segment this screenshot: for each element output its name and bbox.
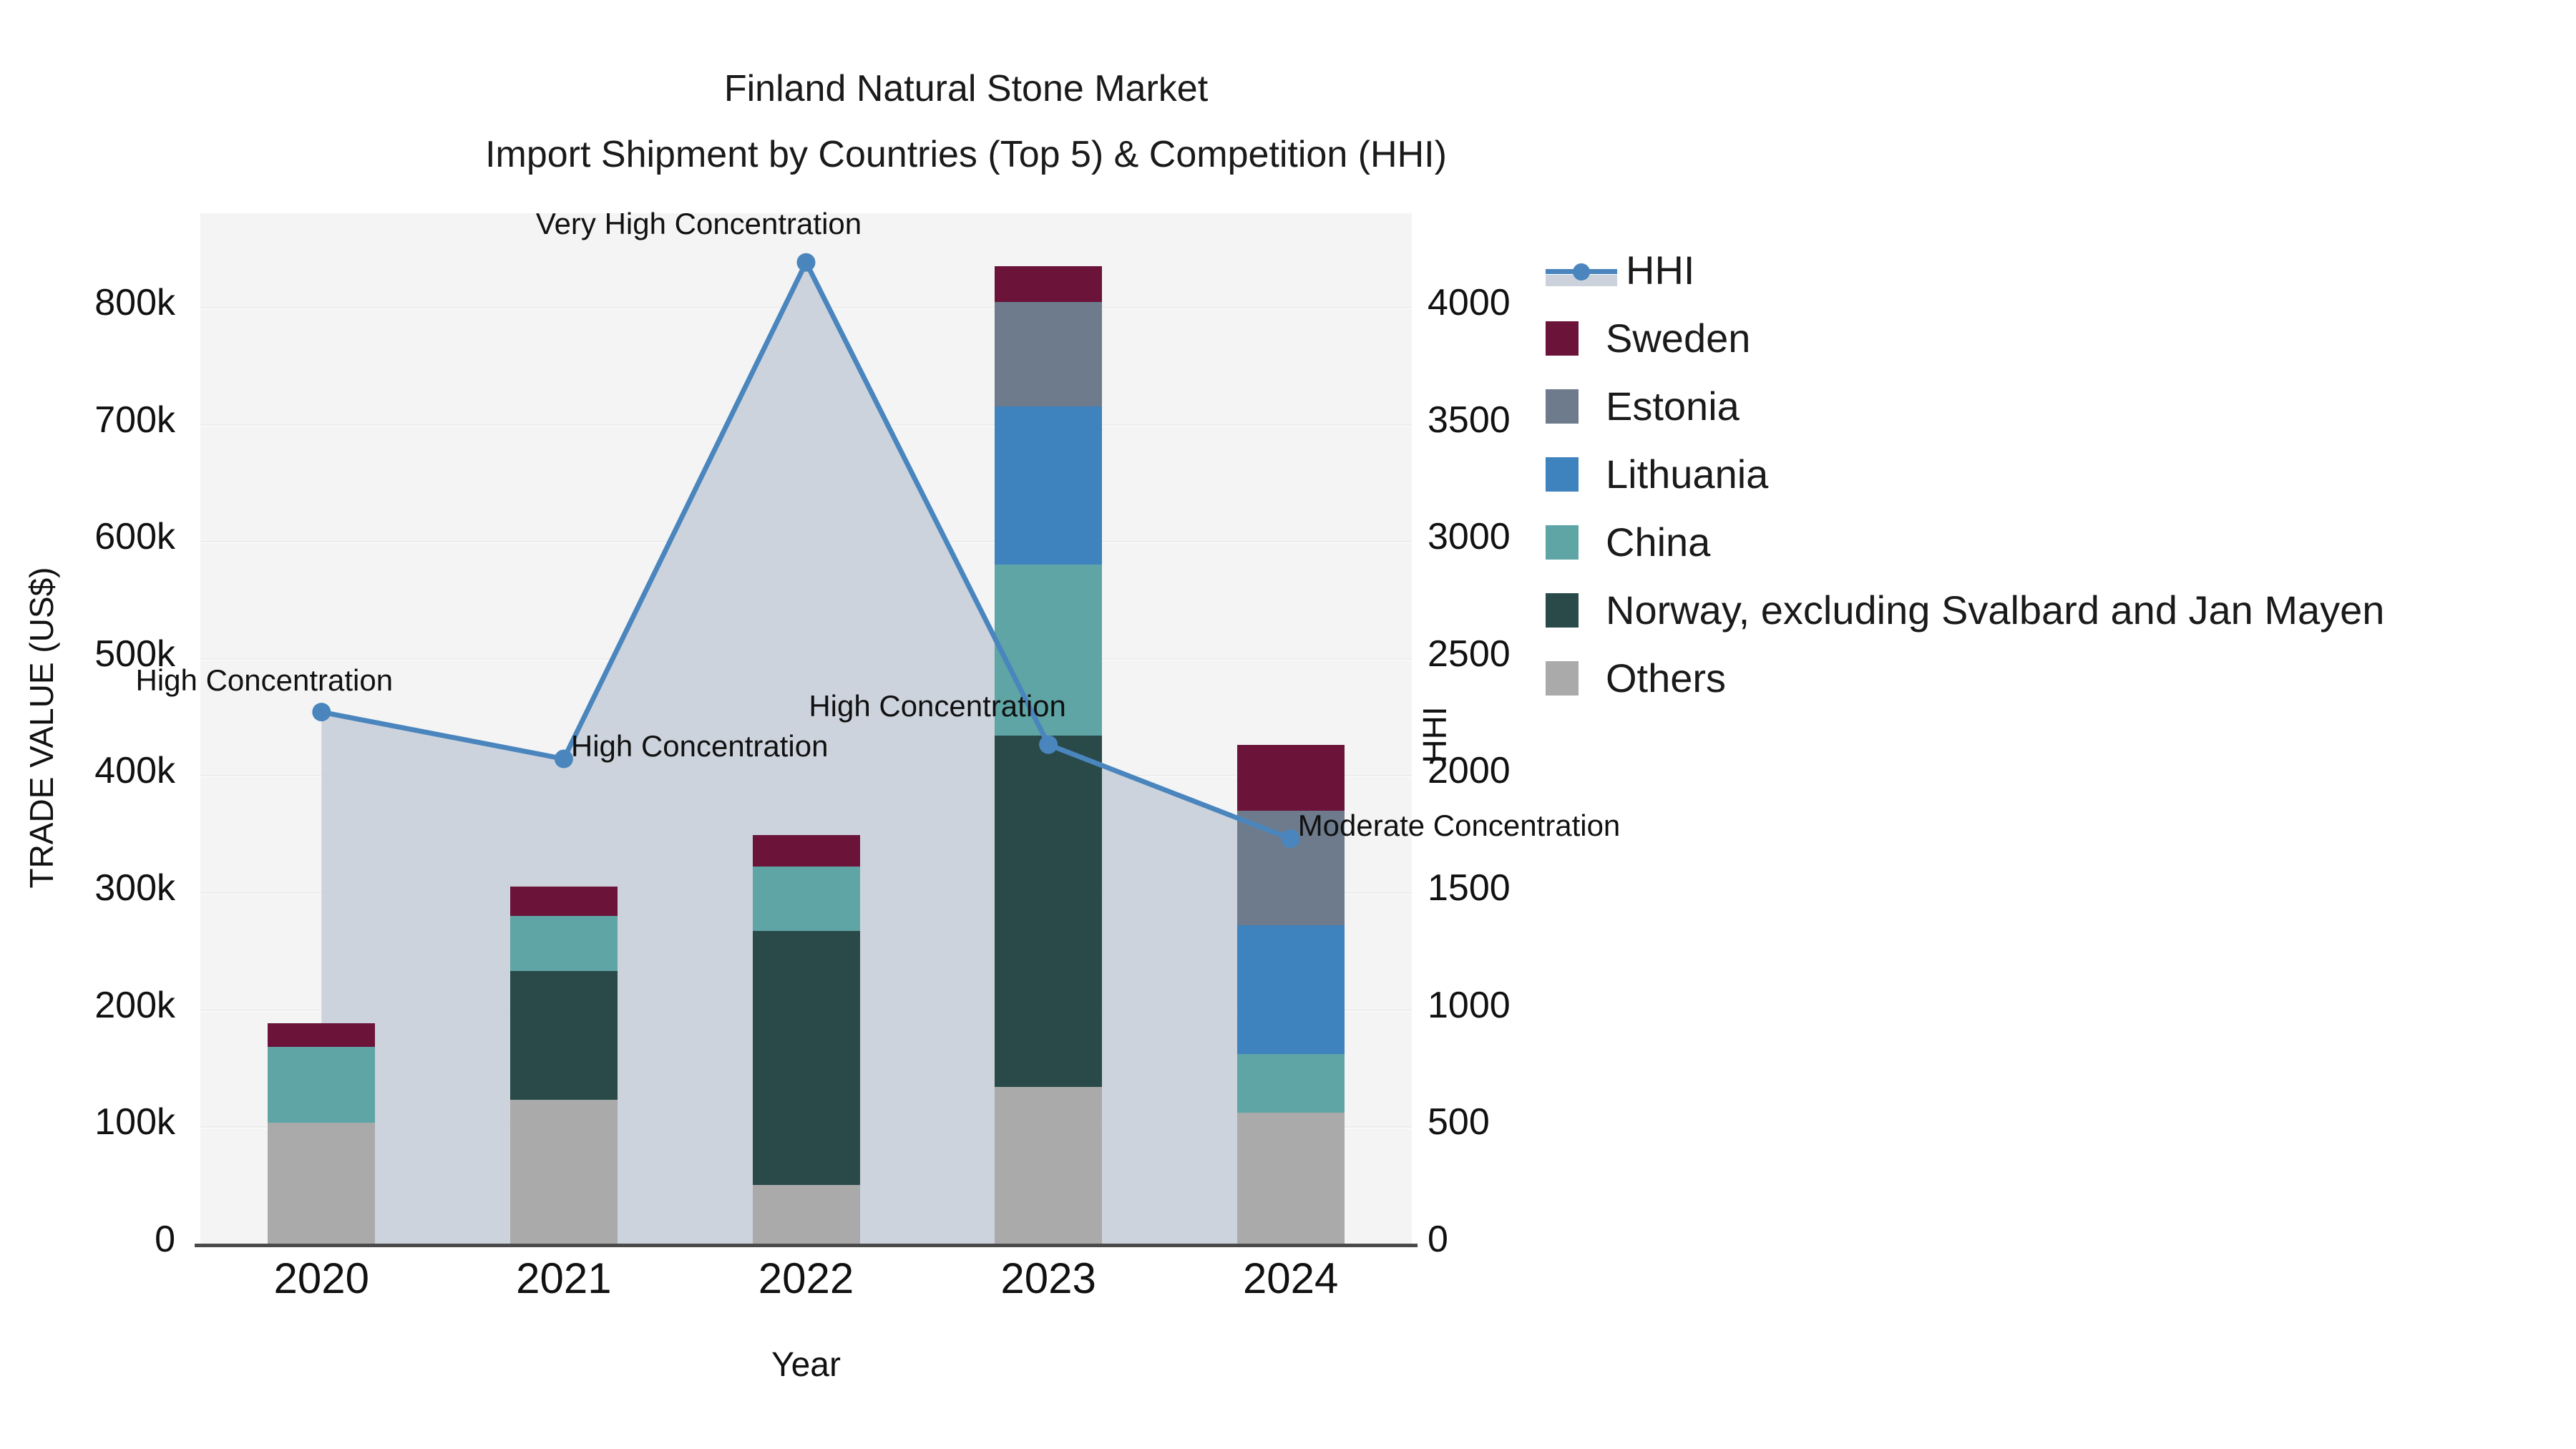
legend-swatch-icon — [1546, 389, 1579, 424]
legend-label: Norway, excluding Svalbard and Jan Mayen — [1606, 587, 2384, 633]
hhi-annotation: High Concentration — [136, 663, 394, 698]
legend-label: Lithuania — [1606, 451, 1768, 497]
legend-item[interactable]: HHI — [1546, 236, 2384, 304]
chart-title: Finland Natural Stone Market Import Ship… — [0, 56, 1932, 187]
hhi-annotation: Very High Concentration — [536, 207, 862, 241]
y-axis-left-tick-label: 800k — [29, 281, 175, 324]
legend-item[interactable]: Norway, excluding Svalbard and Jan Mayen — [1546, 576, 2384, 644]
legend-swatch-icon — [1546, 593, 1579, 628]
chart-root: Finland Natural Stone Market Import Ship… — [0, 0, 2576, 1449]
y-axis-right-tick-label: 1500 — [1428, 867, 1511, 909]
legend-item[interactable]: Others — [1546, 644, 2384, 712]
x-axis-tick-label-2020: 2020 — [243, 1254, 400, 1303]
legend-item[interactable]: China — [1546, 508, 2384, 576]
y-axis-left-tick-label: 0 — [29, 1218, 175, 1261]
legend-swatch-icon — [1546, 661, 1579, 696]
hhi-annotation: Moderate Concentration — [1298, 809, 1621, 843]
x-axis-tick-label-2024: 2024 — [1212, 1254, 1370, 1303]
y-axis-left-tick-label: 100k — [29, 1101, 175, 1143]
y-axis-right-tick-label: 500 — [1428, 1101, 1490, 1143]
y-axis-left-title: TRADE VALUE (US$) — [22, 406, 61, 1050]
y-axis-right-tick-label: 3500 — [1428, 399, 1511, 441]
legend-swatch-icon — [1546, 525, 1579, 560]
x-axis-title: Year — [200, 1345, 1412, 1385]
y-axis-right-title: HHI — [1415, 628, 1454, 842]
y-axis-right-tick-label: 3000 — [1428, 515, 1511, 558]
x-axis-tick-label-2022: 2022 — [728, 1254, 885, 1303]
hhi-line-icon — [1546, 253, 1617, 288]
y-axis-right-tick-label: 1000 — [1428, 984, 1511, 1027]
legend-item[interactable]: Sweden — [1546, 304, 2384, 372]
legend: HHISwedenEstoniaLithuaniaChinaNorway, ex… — [1546, 236, 2384, 712]
x-axis-tick-label-2021: 2021 — [485, 1254, 643, 1303]
chart-title-line1: Finland Natural Stone Market — [0, 56, 1932, 122]
legend-label: Others — [1606, 655, 1726, 701]
legend-label: China — [1606, 519, 1710, 565]
y-axis-right-tick-label: 4000 — [1428, 281, 1511, 324]
legend-item[interactable]: Lithuania — [1546, 440, 2384, 508]
legend-label: Estonia — [1606, 383, 1740, 429]
hhi-annotation: High Concentration — [571, 729, 829, 763]
legend-item[interactable]: Estonia — [1546, 372, 2384, 440]
y-axis-right-tick-label: 0 — [1428, 1218, 1448, 1261]
hhi-annotation: High Concentration — [809, 689, 1066, 723]
legend-label: Sweden — [1606, 315, 1750, 361]
legend-label: HHI — [1626, 247, 1694, 293]
x-axis-tick-label-2023: 2023 — [970, 1254, 1127, 1303]
legend-swatch-icon — [1546, 321, 1579, 356]
legend-swatch-icon — [1546, 457, 1579, 492]
chart-title-line2: Import Shipment by Countries (Top 5) & C… — [0, 122, 1932, 187]
x-axis-line — [195, 1244, 1418, 1247]
